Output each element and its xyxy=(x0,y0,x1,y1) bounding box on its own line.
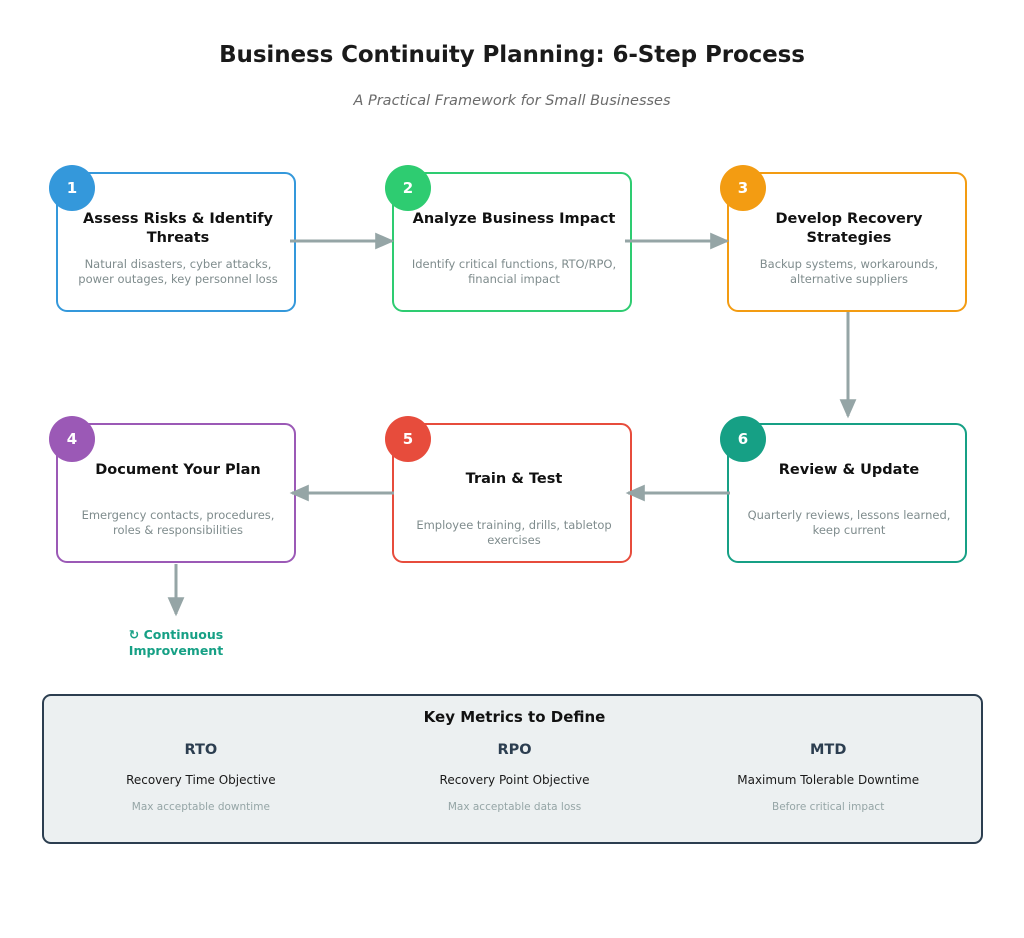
page-title: Business Continuity Planning: 6-Step Pro… xyxy=(0,42,1024,68)
step-badge-3: 3 xyxy=(720,165,766,211)
step-title-6: Review & Update xyxy=(729,461,969,480)
step-description-5: Employee training, drills, tabletop exer… xyxy=(394,518,634,548)
step-description-3: Backup systems, workarounds, alternative… xyxy=(729,257,969,287)
step-description-4: Emergency contacts, procedures, roles & … xyxy=(58,508,298,538)
step-number-5: 5 xyxy=(403,430,413,448)
step-badge-1: 1 xyxy=(49,165,95,211)
metric-full-name: Maximum Tolerable Downtime xyxy=(671,773,985,787)
step-box-3[interactable]: 3 Develop Recovery Strategies Backup sys… xyxy=(727,172,967,312)
step-badge-5: 5 xyxy=(385,416,431,462)
step-description-1: Natural disasters, cyber attacks, power … xyxy=(58,257,298,287)
step-badge-4: 4 xyxy=(49,416,95,462)
metric-item-rpo: RPO Recovery Point Objective Max accepta… xyxy=(358,742,672,813)
step-title-5: Train & Test xyxy=(394,470,634,489)
metric-abbr: RPO xyxy=(358,742,672,758)
metric-full-name: Recovery Time Objective xyxy=(44,773,358,787)
metric-item-mtd: MTD Maximum Tolerable Downtime Before cr… xyxy=(671,742,985,813)
step-number-6: 6 xyxy=(738,430,748,448)
key-metrics-panel: Key Metrics to Define RTO Recovery Time … xyxy=(42,694,983,844)
metric-full-name: Recovery Point Objective xyxy=(358,773,672,787)
step-badge-2: 2 xyxy=(385,165,431,211)
key-metrics-row: RTO Recovery Time Objective Max acceptab… xyxy=(44,742,985,813)
step-box-6[interactable]: 6 Review & Update Quarterly reviews, les… xyxy=(727,423,967,563)
diagram-canvas: Business Continuity Planning: 6-Step Pro… xyxy=(0,0,1024,938)
step-number-1: 1 xyxy=(67,179,77,197)
metric-note: Max acceptable downtime xyxy=(44,801,358,813)
metric-item-rto: RTO Recovery Time Objective Max acceptab… xyxy=(44,742,358,813)
step-box-4[interactable]: 4 Document Your Plan Emergency contacts,… xyxy=(56,423,296,563)
step-description-6: Quarterly reviews, lessons learned, keep… xyxy=(729,508,969,538)
step-description-2: Identify critical functions, RTO/RPO, fi… xyxy=(394,257,634,287)
step-number-4: 4 xyxy=(67,430,77,448)
step-title-3: Develop Recovery Strategies xyxy=(729,210,969,247)
key-metrics-heading: Key Metrics to Define xyxy=(44,708,985,726)
step-number-3: 3 xyxy=(738,179,748,197)
page-subtitle: A Practical Framework for Small Business… xyxy=(0,93,1024,109)
step-box-2[interactable]: 2 Analyze Business Impact Identify criti… xyxy=(392,172,632,312)
metric-abbr: MTD xyxy=(671,742,985,758)
step-badge-6: 6 xyxy=(720,416,766,462)
metric-abbr: RTO xyxy=(44,742,358,758)
step-box-5[interactable]: 5 Train & Test Employee training, drills… xyxy=(392,423,632,563)
step-title-1: Assess Risks & Identify Threats xyxy=(58,210,298,247)
step-title-4: Document Your Plan xyxy=(58,461,298,480)
step-number-2: 2 xyxy=(403,179,413,197)
step-box-1[interactable]: 1 Assess Risks & Identify Threats Natura… xyxy=(56,172,296,312)
metric-note: Before critical impact xyxy=(671,801,985,813)
step-title-2: Analyze Business Impact xyxy=(394,210,634,229)
metric-note: Max acceptable data loss xyxy=(358,801,672,813)
continuous-improvement-label: ↻ Continuous Improvement xyxy=(81,627,271,659)
